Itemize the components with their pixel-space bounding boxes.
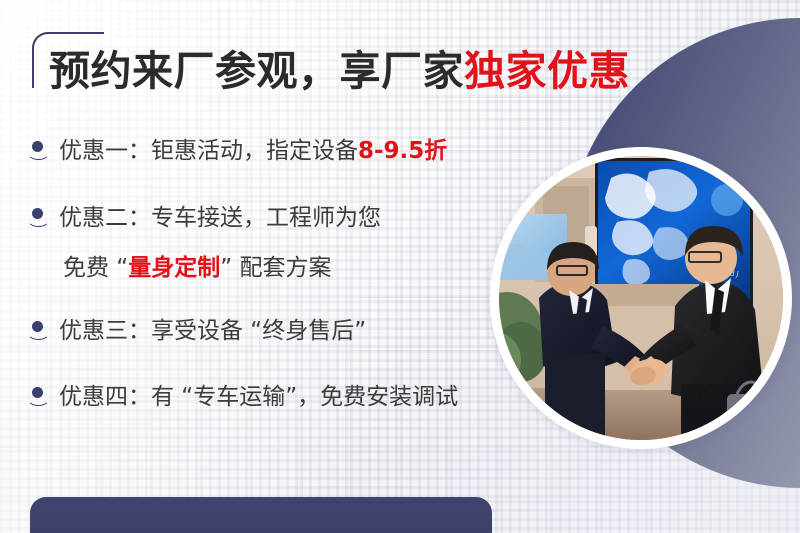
list-item-text-accent: 8-9.5折 [358, 138, 447, 164]
handshake-photo-illustration: ng United ited J [499, 156, 783, 440]
list-item: 优惠三：享受设备 “终身售后” [26, 314, 496, 348]
list-item: 优惠一：钜惠活动，指定设备8-9.5折 [26, 134, 496, 168]
list-item-line-2-accent: 量身定制 [128, 255, 220, 281]
bullet-dot-icon [26, 314, 52, 344]
bullet-dot-icon [26, 380, 52, 410]
bullet-dot-icon [26, 201, 52, 231]
list-item-line-1: 优惠二：专车接送，工程师为您 [59, 205, 381, 231]
list-item-text-plain: 优惠一：钜惠活动，指定设备 [59, 138, 358, 164]
list-item-text: 优惠四：有 “专车运输”，免费安装调试 [59, 380, 458, 414]
page-title-plain: 预约来厂参观，享厂家 [49, 47, 464, 95]
list-item: 优惠二：专车接送，工程师为您 免费 “量身定制” 配套方案 [26, 201, 496, 285]
bottom-navy-bar [30, 497, 492, 533]
list-item-text: 优惠二：专车接送，工程师为您 免费 “量身定制” 配套方案 [59, 201, 381, 285]
promo-banner: 预约来厂参观，享厂家独家优惠 优惠一：钜惠活动，指定设备8-9.5折 优惠二：专… [0, 0, 800, 533]
handshake-photo: ng United ited J [499, 156, 783, 440]
photo-ring-border: ng United ited J [490, 147, 792, 449]
list-item-line-2-prefix: 免费 “ [63, 255, 128, 281]
page-title-accent: 独家优惠 [464, 47, 630, 95]
page-title: 预约来厂参观，享厂家独家优惠 [49, 47, 630, 95]
bullet-dot-icon [26, 134, 52, 164]
list-item: 优惠四：有 “专车运输”，免费安装调试 [26, 380, 496, 414]
list-item-text: 优惠三：享受设备 “终身售后” [59, 314, 366, 348]
list-item-text: 优惠一：钜惠活动，指定设备8-9.5折 [59, 134, 447, 168]
benefits-list: 优惠一：钜惠活动，指定设备8-9.5折 优惠二：专车接送，工程师为您 免费 “量… [26, 134, 496, 414]
list-item-line-2: 免费 “量身定制” 配套方案 [59, 251, 381, 285]
list-item-line-2-suffix: ” 配套方案 [220, 255, 331, 281]
